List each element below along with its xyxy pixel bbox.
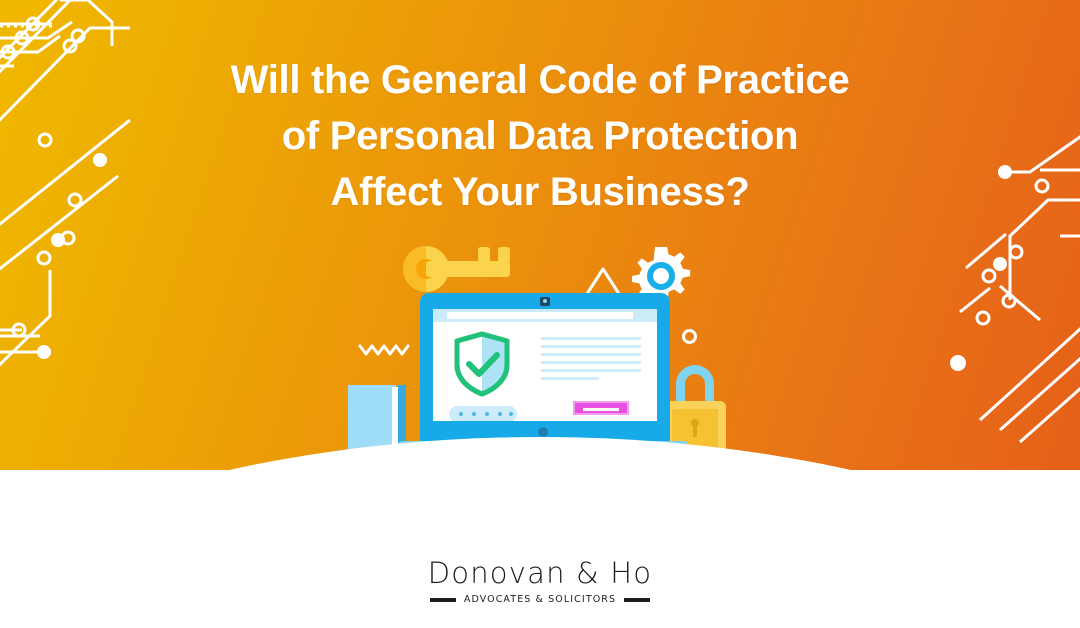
brand-logo: Donovan & Ho ADVOCATES & SOLICITORS	[0, 556, 1080, 605]
page-title: Will the General Code of Practice of Per…	[0, 52, 1080, 220]
laptop-screen	[433, 309, 657, 421]
laptop-lid	[420, 293, 670, 445]
button-label-bar	[583, 408, 619, 411]
laptop-hinge-dot	[538, 427, 548, 437]
call-to-action-button[interactable]	[573, 401, 629, 415]
logo-dash-right	[624, 598, 650, 602]
url-field	[447, 312, 633, 319]
headline-line-3: Affect Your Business?	[0, 164, 1080, 220]
padlock-screw	[714, 409, 718, 413]
text-line	[541, 377, 599, 380]
content-text-lines	[541, 337, 641, 385]
pagination-dots	[449, 406, 517, 421]
webcam-icon	[540, 297, 550, 306]
logo-tagline: ADVOCATES & SOLICITORS	[464, 594, 616, 605]
browser-url-bar	[433, 309, 657, 322]
padlock-keyslot	[693, 425, 697, 437]
text-line	[541, 369, 641, 372]
logo-tagline-row: ADVOCATES & SOLICITORS	[0, 594, 1080, 605]
text-line	[541, 337, 641, 340]
logo-name: Donovan & Ho	[0, 556, 1080, 590]
text-line	[541, 361, 641, 364]
headline-line-1: Will the General Code of Practice	[0, 52, 1080, 108]
text-line	[541, 345, 641, 348]
text-line	[541, 353, 641, 356]
key-icon	[402, 245, 522, 293]
headline-line-2: of Personal Data Protection	[0, 108, 1080, 164]
marketing-banner: Will the General Code of Practice of Per…	[0, 0, 1080, 628]
logo-dash-left	[430, 598, 456, 602]
shield-check-icon	[453, 331, 511, 397]
